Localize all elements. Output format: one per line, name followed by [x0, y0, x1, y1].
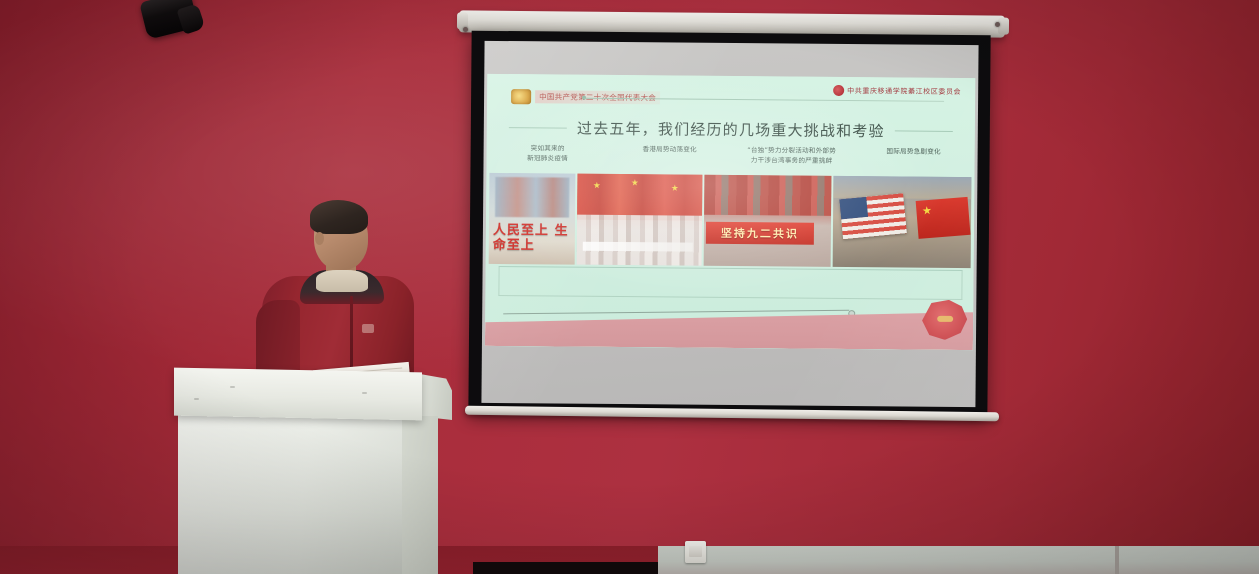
- photo-vignette: [0, 0, 1259, 574]
- presentation-room-photo: 中国共产党第二十次全国代表大会 中共重庆移通学院綦江校区委员会 过去五年，我们经…: [0, 0, 1259, 574]
